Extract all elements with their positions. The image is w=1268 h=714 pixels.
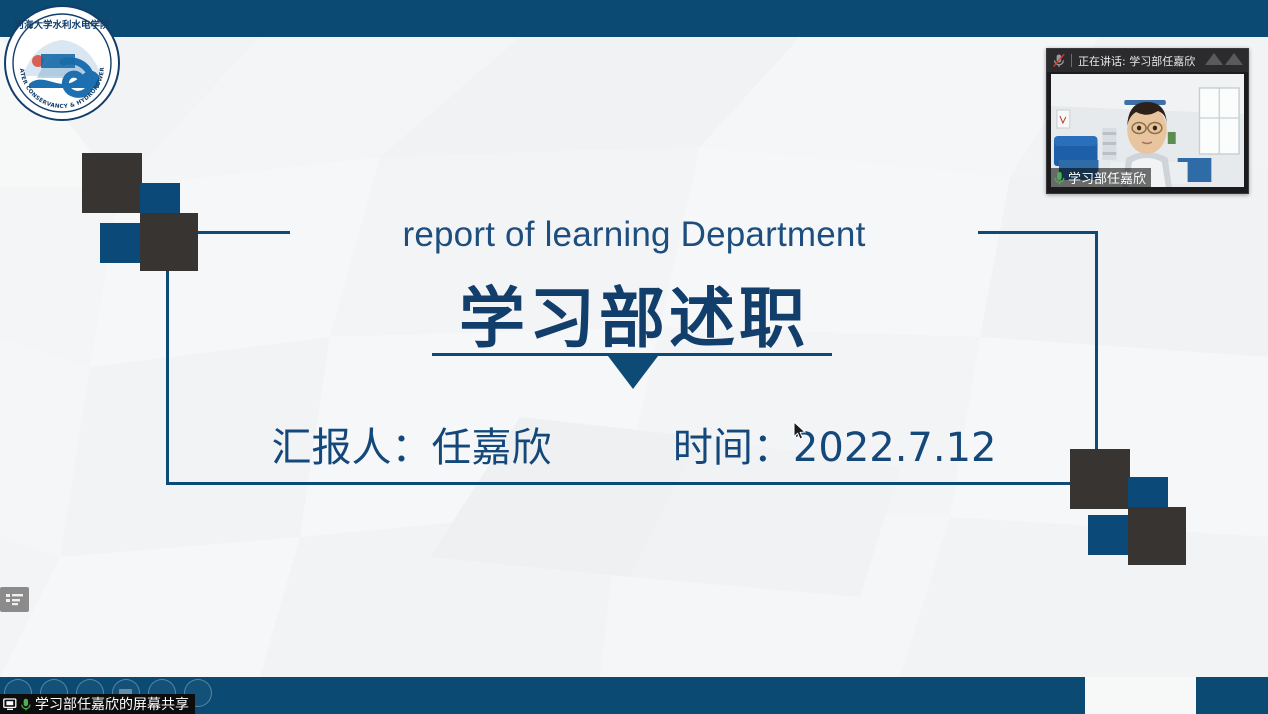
list-menu-icon <box>6 593 23 606</box>
zoom-meeting-window: report of learning Department 学习部述职 汇报人：… <box>0 0 1268 714</box>
decor-square-tl-1 <box>82 153 142 213</box>
slide-subtitle-english: report of learning Department <box>0 215 1268 255</box>
talking-status-label: 正在讲话: 学习部任嘉欣 <box>1078 53 1195 69</box>
meeting-control-bar-right <box>1196 677 1268 714</box>
microphone-icon <box>20 698 32 711</box>
decor-square-br-3 <box>1088 515 1128 555</box>
bottom-bar-gap <box>1085 677 1196 714</box>
screen-share-status-label: 学习部任嘉欣的屏幕共享 <box>35 694 189 714</box>
video-feed: 学习部任嘉欣 <box>1051 74 1244 187</box>
video-panel-header: 正在讲话: 学习部任嘉欣 <box>1047 49 1248 72</box>
date-label: 时间：2022.7.12 <box>673 425 997 471</box>
seal-text-cn: 河海大学水利水电学院 <box>14 19 110 31</box>
presenter-label: 汇报人：任嘉欣 <box>271 425 551 471</box>
video-panel-chevrons[interactable] <box>1205 53 1243 65</box>
screen-share-icon <box>3 698 17 711</box>
participant-nameplate: 学习部任嘉欣 <box>1051 168 1151 187</box>
chevron-up-icon-2[interactable] <box>1225 53 1243 65</box>
chevron-up-icon[interactable] <box>1205 53 1223 65</box>
decor-square-br-4 <box>1128 507 1186 565</box>
screen-share-status-bar: 学习部任嘉欣的屏幕共享 <box>0 694 195 714</box>
meeting-top-bar <box>0 0 1268 37</box>
participant-name-label: 学习部任嘉欣 <box>1068 168 1146 187</box>
university-seal-logo: 河海大学水利水电学院 COLLEGE OF WATER CONSERVANCY … <box>3 4 121 122</box>
microphone-muted-icon[interactable] <box>1052 53 1066 68</box>
slide-title-chinese: 学习部述职 <box>0 265 1268 361</box>
divider-triangle-icon <box>608 356 658 389</box>
frame-line-bottom <box>166 482 1071 485</box>
header-separator <box>1071 54 1072 67</box>
microphone-icon <box>1053 171 1066 185</box>
self-view-video-panel[interactable]: 正在讲话: 学习部任嘉欣 <box>1046 48 1249 194</box>
side-panel-toggle-button[interactable] <box>0 587 29 612</box>
slide-meta-row: 汇报人：任嘉欣 时间：2022.7.12 <box>0 415 1268 473</box>
